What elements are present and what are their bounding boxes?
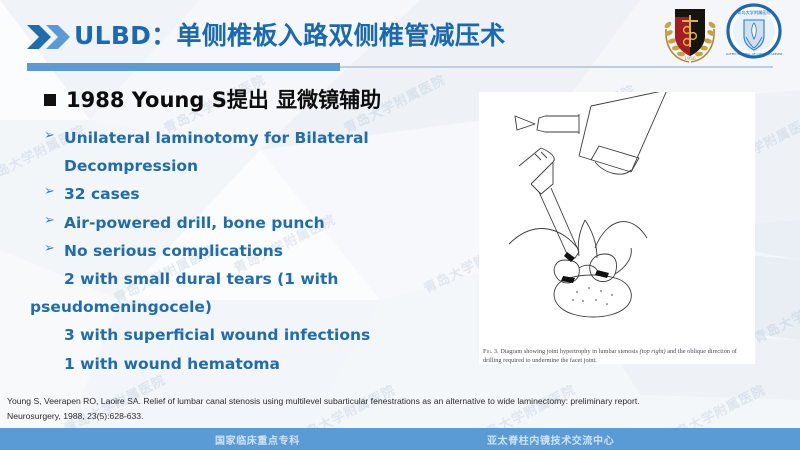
double-chevron-icon: [27, 24, 73, 50]
watermark-text: 青岛大学附属医院: [750, 279, 800, 347]
citation-block: Young S, Veerapen RO, Laoire SA. Relief …: [7, 394, 793, 424]
list-item-label: No serious complications: [64, 237, 464, 265]
bullet-list: ➢ Unilateral laminotomy for Bilateral ➢ …: [44, 124, 464, 378]
section-heading-label: 1988 Young S提出 显微镜辅助: [66, 84, 381, 114]
list-item: ➢ 3 with superficial wound infections: [44, 321, 464, 349]
section-heading: 1988 Young S提出 显微镜辅助: [44, 84, 464, 114]
arrow-bullet-icon: ➢: [44, 209, 55, 234]
list-item-label: Air-powered drill, bone punch: [64, 209, 464, 237]
shield-crest-logo: 1956: [662, 3, 718, 65]
list-item-label: 32 cases: [64, 180, 464, 208]
list-item: ➢ No serious complications: [44, 237, 464, 265]
list-item: ➢ Unilateral laminotomy for Bilateral: [44, 124, 464, 152]
list-item-label: 2 with small dural tears (1 with: [64, 265, 464, 293]
arrow-bullet-icon: ➢: [44, 180, 55, 205]
list-item: ➢ Decompression: [44, 152, 464, 180]
logo-group: 1956 青岛大学附属医院 AFFILIATED HOSPITAL OF QIN…: [662, 3, 782, 65]
list-item-label: Decompression: [64, 152, 464, 180]
square-bullet-icon: [44, 94, 56, 106]
list-item-label: 1 with wound hematoma: [64, 350, 464, 378]
content-column: 1988 Young S提出 显微镜辅助 ➢ Unilateral lamino…: [44, 84, 464, 378]
slide-footer: 国家临床重点专科 亚太脊柱内镜技术交流中心: [0, 428, 800, 450]
title-rule-thick: [27, 63, 340, 71]
figure-caption-line3: the facet joint.: [561, 357, 597, 364]
list-item: ➢ 32 cases: [44, 180, 464, 208]
svg-text:青岛大学附属医院: 青岛大学附属医院: [737, 9, 771, 16]
footer-right-label: 亚太脊柱内镜技术交流中心: [487, 432, 614, 447]
list-item-label: pseudomeningocele): [30, 293, 464, 321]
svg-text:AFFILIATED HOSPITAL OF QINGDAO: AFFILIATED HOSPITAL OF QINGDAO UNIVERSIT…: [726, 52, 782, 56]
footer-left-label: 国家临床重点专科: [215, 432, 300, 447]
title-rule-thin: [340, 66, 773, 68]
citation-line-1: Young S, Veerapen RO, Laoire SA. Relief …: [7, 394, 793, 409]
list-item: ➢ pseudomeningocele): [44, 293, 464, 321]
citation-line-2: Neurosurgery, 1988, 23(5):628-633.: [7, 409, 793, 424]
arrow-bullet-icon: ➢: [44, 237, 55, 262]
figure-panel: [479, 92, 755, 364]
page-title: ULBD：单侧椎板入路双侧椎管减压术: [74, 16, 505, 52]
arrow-bullet-icon: ➢: [44, 124, 55, 149]
list-item: ➢ Air-powered drill, bone punch: [44, 209, 464, 237]
figure-caption: Fig. 3. Diagram showing joint hypertroph…: [483, 347, 749, 366]
figure-caption-italic: (top right): [640, 348, 666, 355]
list-item-label: 3 with superficial wound infections: [64, 321, 464, 349]
list-item: ➢ 2 with small dural tears (1 with: [44, 265, 464, 293]
list-item: ➢ 1 with wound hematoma: [44, 350, 464, 378]
figure-caption-label: Fig. 3.: [483, 348, 499, 355]
hospital-circular-logo: 青岛大学附属医院 AFFILIATED HOSPITAL OF QINGDAO …: [726, 3, 782, 61]
list-item-label: Unilateral laminotomy for Bilateral: [64, 124, 464, 152]
figure-caption-line1: Diagram showing joint hypertrophy in lum…: [500, 348, 638, 355]
logo-year-text: 1956: [684, 56, 696, 62]
slide-canvas: 青岛大学附属医院 青岛大学附属医院 青岛大学附属医院 青岛大学附属医院 青岛大学…: [0, 0, 800, 450]
lumbar-stenosis-line-drawing: [479, 92, 755, 364]
